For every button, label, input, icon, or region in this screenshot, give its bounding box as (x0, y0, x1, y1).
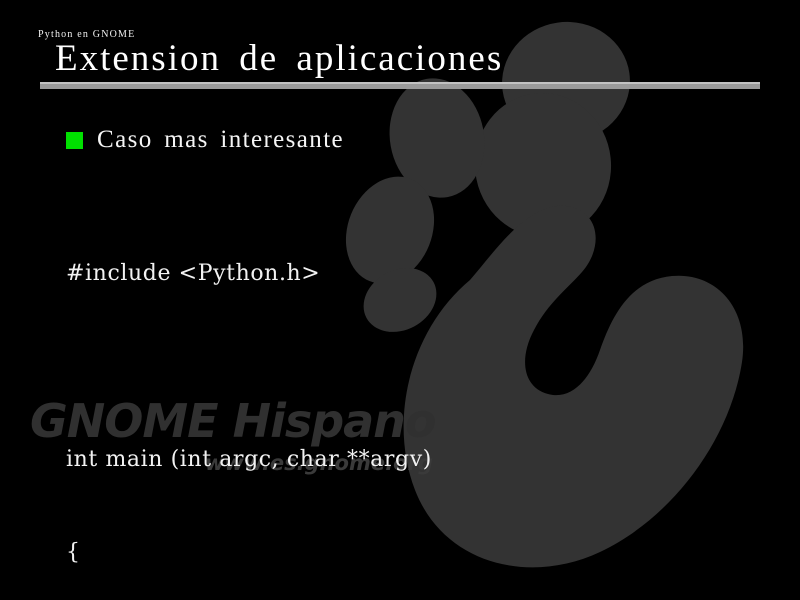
code-line: #include <Python.h> (66, 258, 455, 289)
title-divider (40, 82, 760, 89)
page-title: Extension de aplicaciones (55, 40, 503, 79)
slide-content: Caso mas interesante #include <Python.h>… (0, 0, 800, 600)
code-line: { (66, 537, 455, 568)
bullet-list-item: Caso mas interesante (66, 126, 344, 154)
code-line: int main (int argc, char **argv) (66, 444, 455, 475)
code-line (66, 351, 455, 382)
code-block: #include <Python.h> int main (int argc, … (66, 196, 455, 600)
bullet-item-label: Caso mas interesante (97, 126, 344, 154)
presentation-slide: GNOME Hispano www.es.gnome.org Python en… (0, 0, 800, 600)
bullet-square-icon (66, 132, 83, 149)
